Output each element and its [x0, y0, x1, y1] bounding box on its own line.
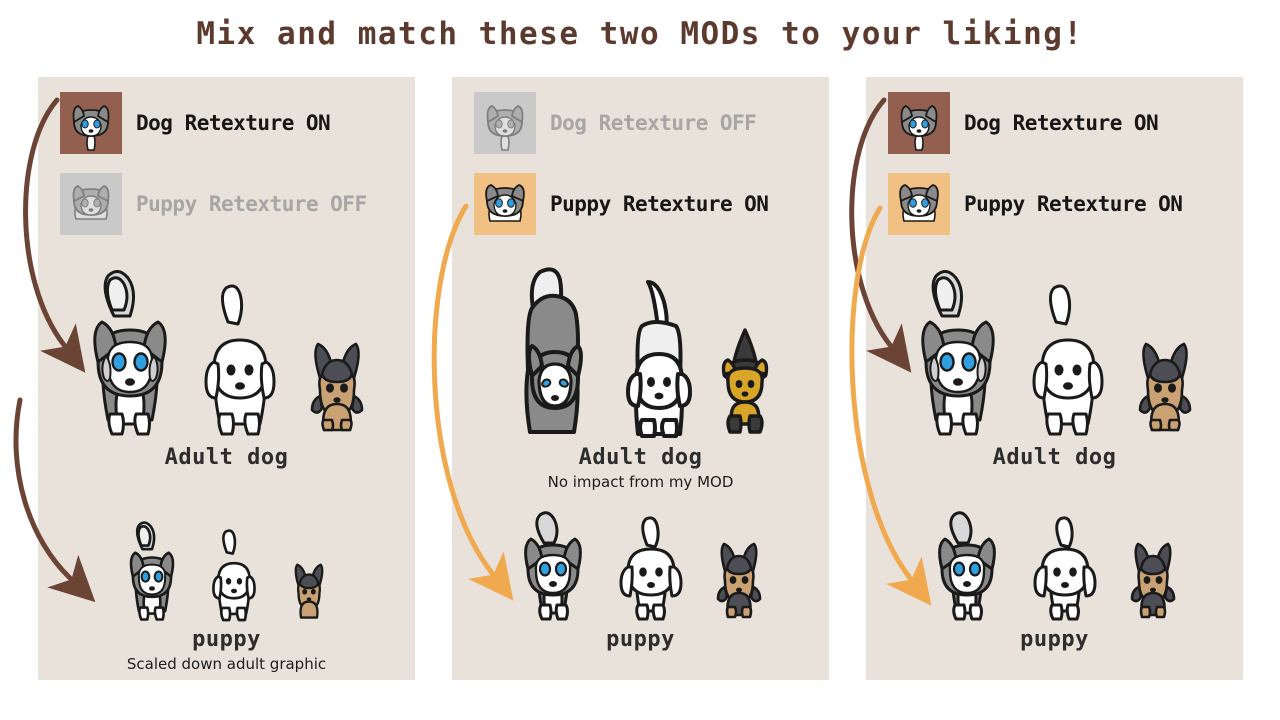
- labrador-puppy: [614, 513, 688, 625]
- puppy-caption: puppy: [866, 627, 1243, 655]
- page-title: Mix and match these two MODs to your lik…: [0, 16, 1280, 52]
- mod-row-puppy-retexture[interactable]: Puppy Retexture OFF: [60, 173, 367, 235]
- adult-caption: Adult dog: [866, 445, 1243, 473]
- puppy-caption-text: puppy: [452, 627, 829, 652]
- mod-name: Puppy Retexture: [964, 192, 1146, 216]
- yorkie-puppy: [710, 533, 768, 625]
- puppy-retexture-label: Puppy Retexture ON: [550, 192, 768, 216]
- puppy-retexture-label: Puppy Retexture OFF: [136, 192, 367, 216]
- dog-retexture-label: Dog Retexture OFF: [550, 111, 756, 135]
- mod-state: ON: [1158, 192, 1182, 216]
- vanilla-labrador: [614, 270, 704, 442]
- adult-dog-row: [866, 257, 1243, 442]
- panel-dog-on-puppy-off: Dog Retexture ON: [38, 77, 415, 680]
- adult-caption: Adult dog No impact from my MOD: [452, 445, 829, 491]
- adult-caption-text: Adult dog: [38, 445, 415, 470]
- puppy-retexture-thumb[interactable]: [474, 173, 536, 235]
- yorkie-puppy-scaled: [285, 556, 333, 625]
- labrador-puppy: [1028, 513, 1102, 625]
- vanilla-husky: [506, 262, 604, 442]
- mod-state: ON: [306, 111, 330, 135]
- dog-retexture-label: Dog Retexture ON: [136, 111, 330, 135]
- labrador-puppy-scaled: [205, 528, 263, 625]
- mod-name: Puppy Retexture: [136, 192, 318, 216]
- husky-puppy: [514, 509, 592, 625]
- mod-row-dog-retexture[interactable]: Dog Retexture ON: [60, 92, 330, 154]
- puppy-caption-text: puppy: [38, 627, 415, 652]
- dog-retexture-label: Dog Retexture ON: [964, 111, 1158, 135]
- adult-dog-row: [452, 257, 829, 442]
- panel-dog-off-puppy-on: Dog Retexture OFF: [452, 77, 829, 680]
- puppy-dog-row: [38, 500, 415, 625]
- mod-row-dog-retexture[interactable]: Dog Retexture OFF: [474, 92, 756, 154]
- dog-retexture-thumb[interactable]: [474, 92, 536, 154]
- adult-dog-row: [38, 257, 415, 442]
- mod-row-puppy-retexture[interactable]: Puppy Retexture ON: [474, 173, 768, 235]
- vanilla-yellow-dog: [714, 324, 776, 442]
- mod-name: Dog Retexture: [964, 111, 1122, 135]
- husky-adult: [906, 270, 1010, 442]
- labrador-adult: [1020, 282, 1116, 442]
- mod-state: ON: [1134, 111, 1158, 135]
- mod-row-puppy-retexture[interactable]: Puppy Retexture ON: [888, 173, 1182, 235]
- puppy-retexture-thumb[interactable]: [888, 173, 950, 235]
- yorkie-adult: [298, 330, 376, 442]
- panel-dog-on-puppy-on: Dog Retexture ON: [866, 77, 1243, 680]
- mod-state: ON: [744, 192, 768, 216]
- puppy-caption-text: puppy: [866, 627, 1243, 652]
- husky-adult: [78, 270, 182, 442]
- yorkie-puppy: [1124, 533, 1182, 625]
- puppy-subcaption-text: Scaled down adult graphic: [38, 655, 415, 673]
- puppy-caption: puppy Scaled down adult graphic: [38, 627, 415, 673]
- puppy-retexture-label: Puppy Retexture ON: [964, 192, 1182, 216]
- adult-caption-text: Adult dog: [866, 445, 1243, 470]
- mod-name: Dog Retexture: [550, 111, 708, 135]
- adult-caption-text: Adult dog: [452, 445, 829, 470]
- labrador-adult: [192, 282, 288, 442]
- husky-puppy: [928, 509, 1006, 625]
- mod-name: Dog Retexture: [136, 111, 294, 135]
- husky-puppy-scaled: [121, 521, 183, 625]
- adult-caption: Adult dog: [38, 445, 415, 473]
- dog-retexture-thumb[interactable]: [60, 92, 122, 154]
- mod-row-dog-retexture[interactable]: Dog Retexture ON: [888, 92, 1158, 154]
- yorkie-adult: [1126, 330, 1204, 442]
- mod-state: OFF: [720, 111, 756, 135]
- puppy-retexture-thumb[interactable]: [60, 173, 122, 235]
- adult-subcaption-text: No impact from my MOD: [452, 473, 829, 491]
- dog-retexture-thumb[interactable]: [888, 92, 950, 154]
- mod-state: OFF: [330, 192, 366, 216]
- screenshot-root: Mix and match these two MODs to your lik…: [0, 0, 1280, 720]
- mod-name: Puppy Retexture: [550, 192, 732, 216]
- puppy-caption: puppy: [452, 627, 829, 655]
- puppy-dog-row: [452, 500, 829, 625]
- puppy-dog-row: [866, 500, 1243, 625]
